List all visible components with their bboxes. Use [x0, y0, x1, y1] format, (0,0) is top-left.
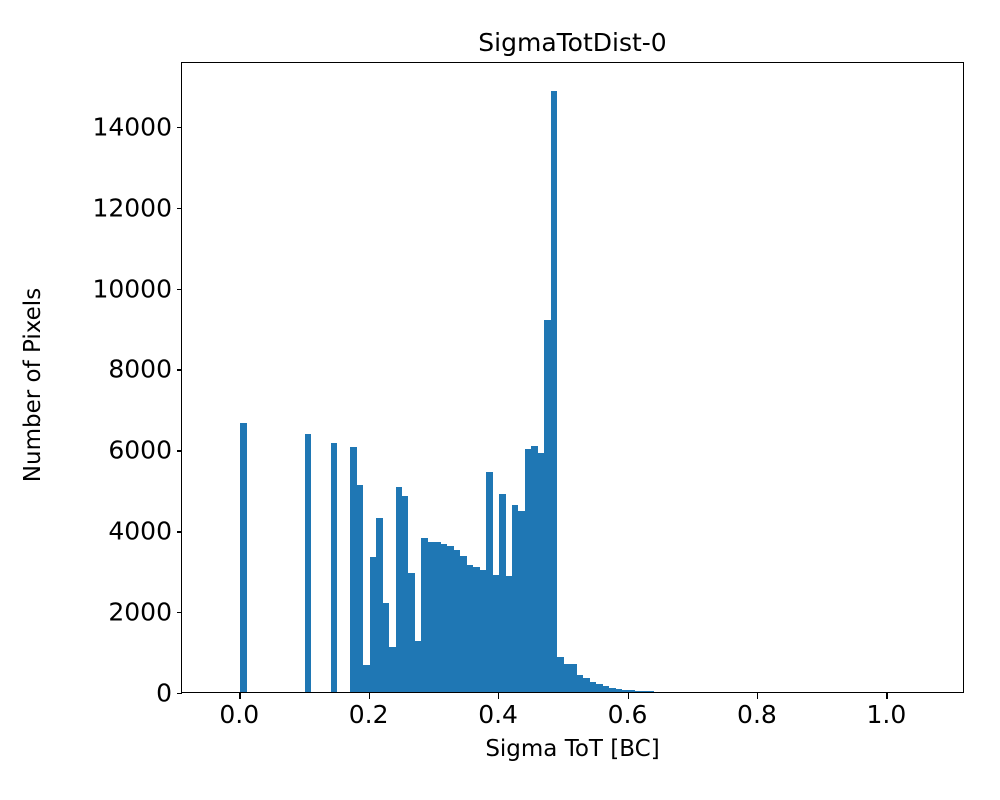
- x-tick-label: 0.2: [349, 700, 389, 729]
- x-axis-label: Sigma ToT [BC]: [181, 736, 964, 762]
- x-tick-mark: [757, 693, 758, 699]
- y-tick-label: 4000: [108, 519, 172, 544]
- histogram-bar: [525, 449, 531, 693]
- y-tick-mark: [177, 693, 182, 694]
- y-tick-label: 8000: [108, 357, 172, 382]
- x-tick-label: 0.4: [478, 700, 518, 729]
- chart-title: SigmaTotDist-0: [181, 27, 964, 59]
- y-tick-label: 6000: [108, 438, 172, 463]
- histogram-bar: [441, 544, 447, 692]
- x-tick-label: 0.8: [737, 700, 777, 729]
- x-tick-label: 1.0: [866, 700, 906, 729]
- histogram-bar: [551, 91, 557, 692]
- y-tick-label: 0: [156, 681, 172, 706]
- histogram-bar: [396, 487, 402, 692]
- y-tick-mark: [177, 289, 182, 290]
- figure-canvas: SigmaTotDist-0 0200040006000800010000120…: [0, 0, 1000, 800]
- x-tick-mark: [886, 693, 887, 699]
- y-tick-mark: [177, 531, 182, 532]
- y-tick-label: 14000: [92, 114, 172, 139]
- y-axis-label: Number of Pixels: [20, 255, 46, 515]
- y-tick-label: 2000: [108, 600, 172, 625]
- histogram-bar: [305, 434, 311, 692]
- histogram-bar: [570, 664, 576, 692]
- histogram-bar: [331, 443, 337, 692]
- x-tick-label: 0.6: [608, 700, 648, 729]
- plot-area: [181, 62, 964, 693]
- histogram-bar: [240, 423, 246, 692]
- y-tick-mark: [177, 208, 182, 209]
- y-tick-mark: [177, 127, 182, 128]
- x-tick-mark: [369, 693, 370, 699]
- histogram-bar: [357, 485, 363, 692]
- histogram-bars: [182, 63, 963, 692]
- histogram-bar: [350, 447, 356, 692]
- histogram-bar: [486, 472, 492, 692]
- y-tick-mark: [177, 612, 182, 613]
- x-tick-mark: [239, 693, 240, 699]
- x-tick-mark: [628, 693, 629, 699]
- histogram-bar: [616, 689, 622, 692]
- x-tick-label: 0.0: [219, 700, 259, 729]
- x-tick-mark: [498, 693, 499, 699]
- y-tick-mark: [177, 450, 182, 451]
- y-tick-mark: [177, 369, 182, 370]
- y-tick-label: 10000: [92, 276, 172, 301]
- y-tick-label: 12000: [92, 195, 172, 220]
